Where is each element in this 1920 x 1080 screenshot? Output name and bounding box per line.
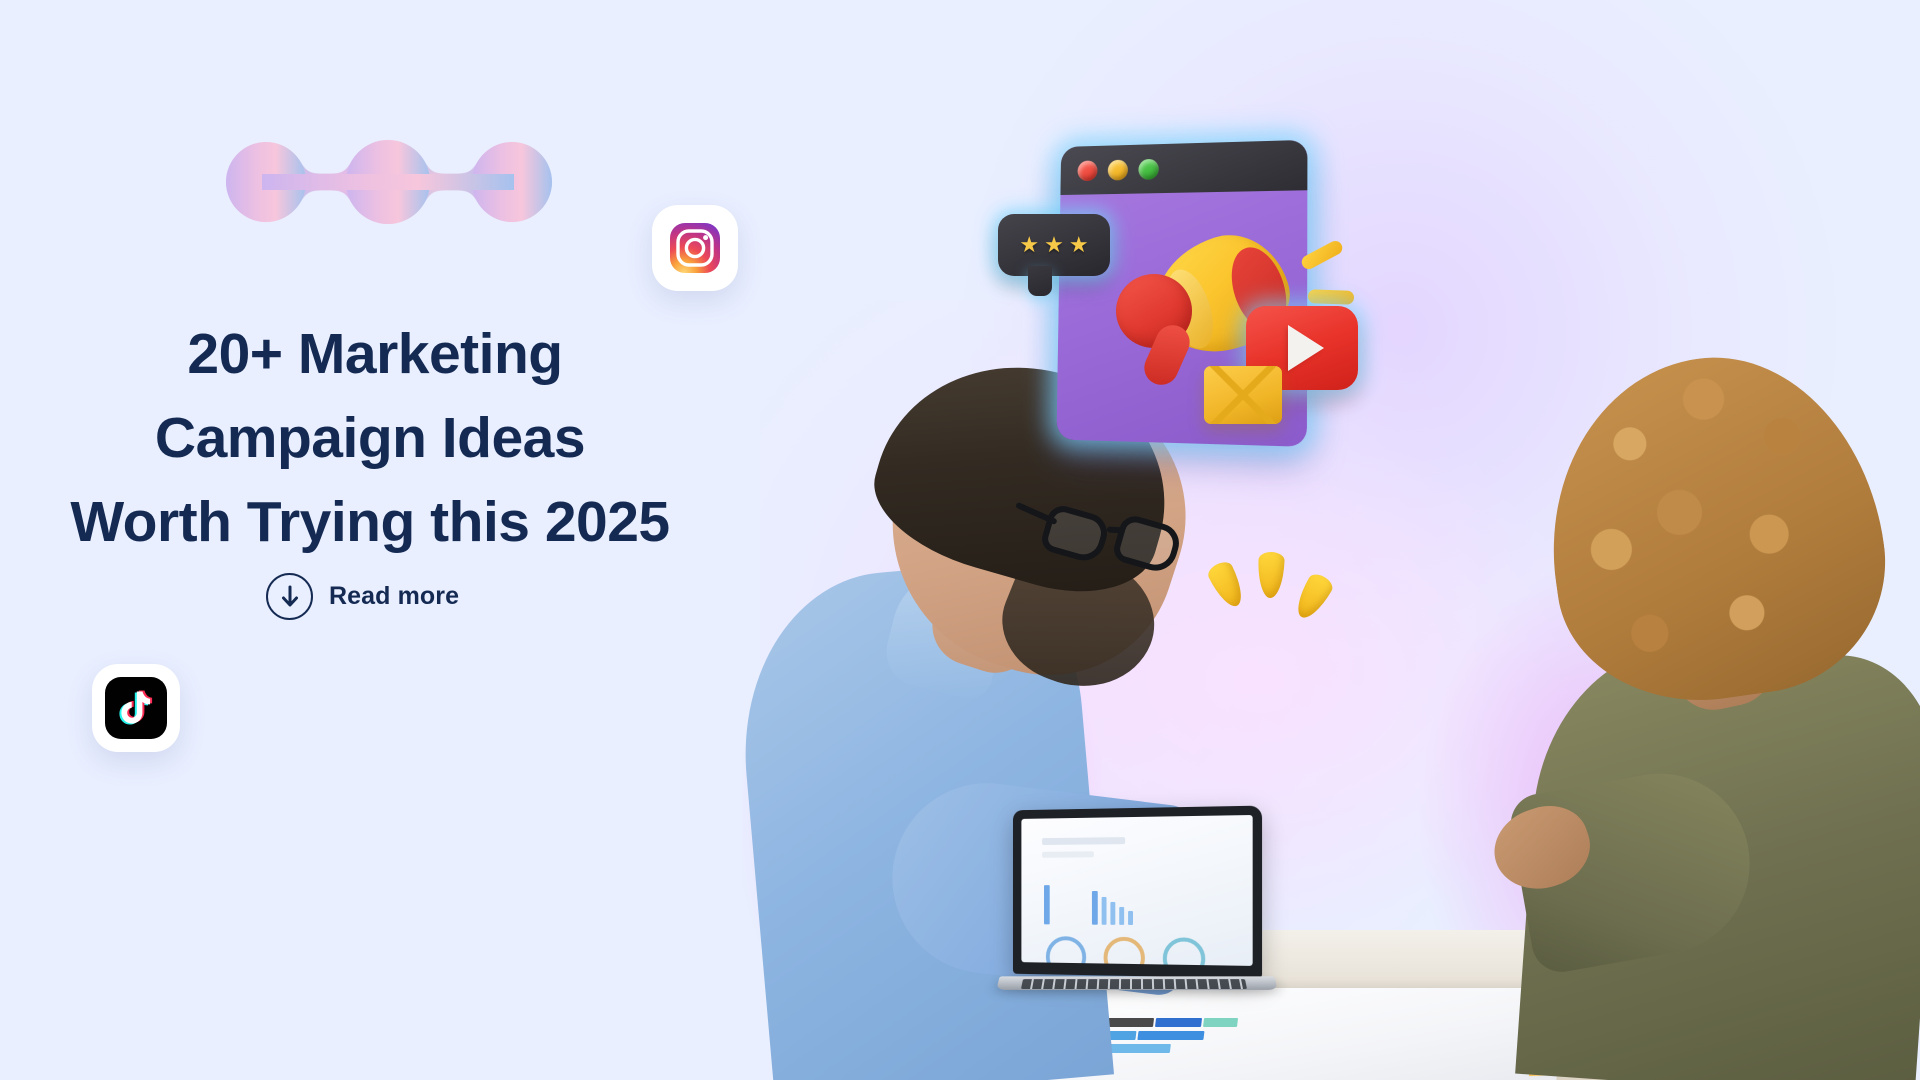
laptop-with-dashboard [1008,808,1276,1008]
headline-line-3: Worth Trying this 2025 [0,480,740,564]
marketing-banner: 20+ Marketing Campaign Ideas Worth Tryin… [0,0,1920,1080]
tiktok-icon[interactable] [105,677,167,739]
circle-arrow-down-icon[interactable] [266,573,313,620]
dashboard-donuts [1046,936,1205,966]
star-icon: ★ [1069,234,1089,256]
laptop-screen [1021,815,1252,966]
laptop-lid [1013,806,1262,979]
woman-with-curly-hair [1490,348,1920,1080]
page-title: 20+ Marketing Campaign Ideas Worth Tryin… [0,312,740,564]
headline-line-2: Campaign Ideas [0,396,740,480]
traffic-light-red [1077,160,1097,181]
tiktok-tile[interactable] [92,664,180,752]
star-icon: ★ [1044,234,1064,256]
headline-line-1: 20+ Marketing [0,312,740,396]
instagram-icon[interactable] [667,220,723,276]
3d-marketing-scene: ★ ★ ★ [1008,128,1408,458]
email-envelope-icon [1204,366,1282,424]
laptop-keyboard [1021,979,1247,989]
star-icon: ★ [1019,234,1039,256]
traffic-light-yellow [1108,159,1128,180]
browser-title-bar [1060,140,1307,195]
three-circle-gradient-blob [222,138,554,226]
dashboard-bar-chart [1044,879,1133,925]
traffic-light-green [1138,158,1159,179]
play-triangle [1288,325,1324,371]
instagram-tile[interactable] [652,205,738,291]
star-rating-bubble: ★ ★ ★ [998,214,1110,276]
read-more-label: Read more [329,582,459,611]
megaphone-ray [1308,289,1354,305]
sparkle-burst-icon [1210,552,1340,648]
read-more-button[interactable]: Read more [266,573,459,620]
